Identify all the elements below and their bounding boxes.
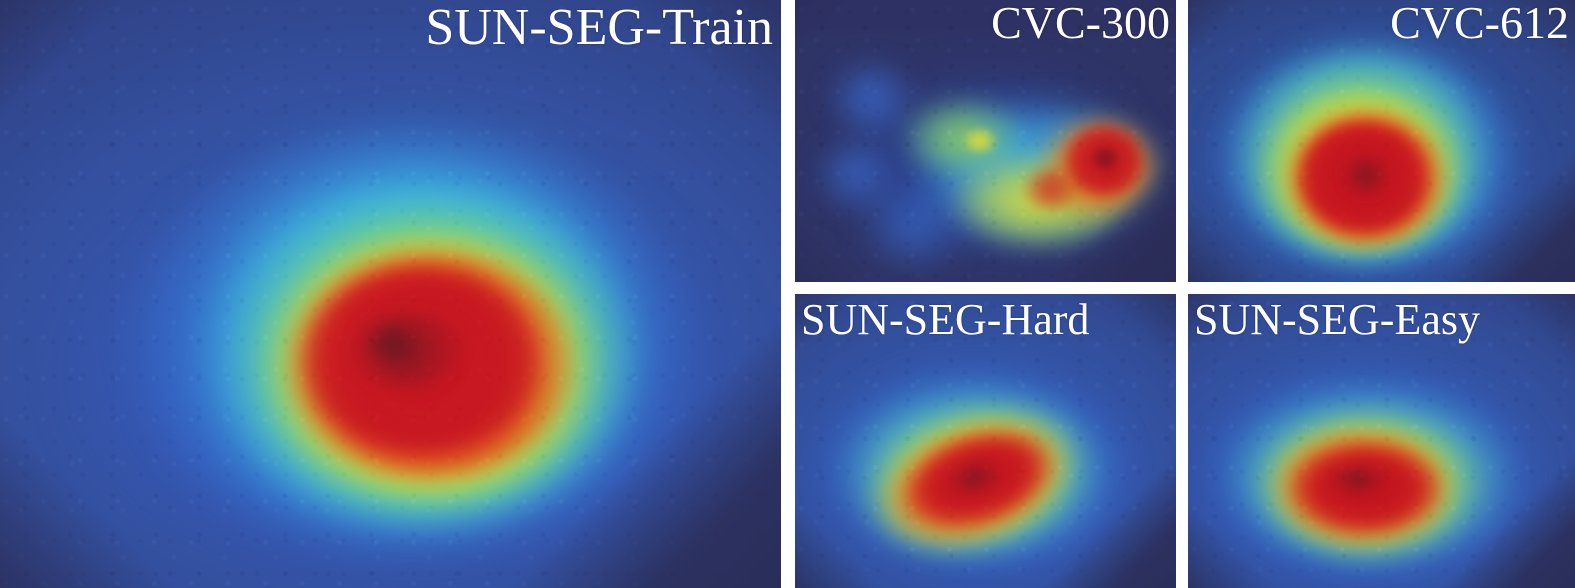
panel-label-sun-seg-easy: SUN-SEG-Easy <box>1194 298 1480 342</box>
heatmap-figure: SUN-SEG-Train CVC-300 <box>0 0 1575 588</box>
panel-sun-seg-easy[interactable]: SUN-SEG-Easy <box>1188 294 1575 588</box>
panel-cvc-612[interactable]: CVC-612 <box>1188 0 1575 282</box>
panel-label-sun-seg-hard: SUN-SEG-Hard <box>801 298 1089 342</box>
panel-cvc-300[interactable]: CVC-300 <box>795 0 1176 282</box>
panel-label-cvc-300: CVC-300 <box>991 0 1170 46</box>
panel-label-cvc-612: CVC-612 <box>1390 0 1569 46</box>
panel-label-sun-seg-train: SUN-SEG-Train <box>425 2 773 54</box>
panel-sun-seg-train[interactable]: SUN-SEG-Train <box>0 0 781 588</box>
heatmap-sun-seg-train <box>0 0 781 588</box>
panel-sun-seg-hard[interactable]: SUN-SEG-Hard <box>795 294 1176 588</box>
